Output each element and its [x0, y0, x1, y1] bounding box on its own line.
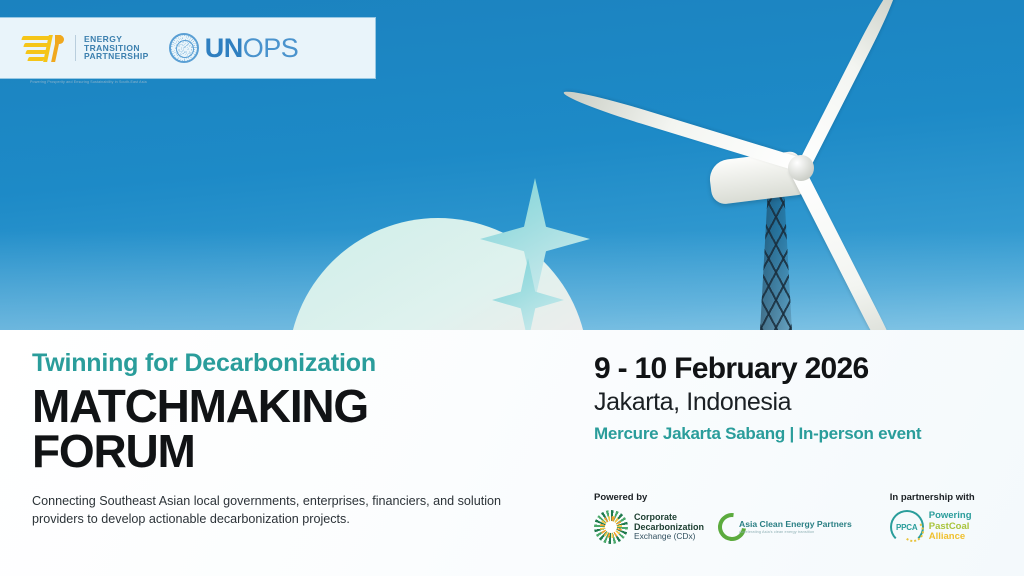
ppca-logo: PPCA Powering PastCoal Alliance [890, 510, 972, 544]
wind-turbine-image [560, 60, 1024, 350]
unops-wordmark: UNOPS [205, 35, 299, 62]
ppca-mark-icon: PPCA [890, 510, 924, 544]
etp-logo: ENERGY TRANSITION PARTNERSHIP [22, 33, 149, 63]
etp-line-3: PARTNERSHIP [84, 52, 149, 61]
logo-bar: ENERGY TRANSITION PARTNERSHIP UNOPS Powe… [0, 18, 375, 78]
event-city: Jakarta, Indonesia [594, 388, 1004, 417]
event-date: 9 - 10 February 2026 [594, 352, 1004, 385]
etp-mark-icon [22, 33, 66, 63]
unops-bold: UN [205, 33, 243, 63]
content-panel: Twinning for Decarbonization MATCHMAKING… [0, 330, 1024, 576]
cdx-logo: Corporate Decarbonization Exchange (CDx) [594, 510, 704, 544]
etp-tagline: Powering Prosperity and Ensuring Sustain… [30, 80, 200, 84]
powered-by-group: Powered by Corporate Decarbonization Exc… [594, 492, 852, 544]
event-venue: Mercure Jakarta Sabang | In-person event [594, 424, 1004, 444]
un-emblem-icon [169, 33, 199, 63]
acep-name: Asia Clean Energy Partners [739, 520, 852, 529]
ppca-line-3: Alliance [929, 532, 972, 542]
etp-wordmark: ENERGY TRANSITION PARTNERSHIP [84, 35, 149, 61]
cdx-line-1: Corporate [634, 512, 704, 522]
unops-logo: UNOPS [169, 33, 299, 63]
headline-line-1: MATCHMAKING [32, 384, 552, 429]
event-description: Connecting Southeast Asian local governm… [32, 492, 512, 529]
turbine-blade [562, 86, 805, 172]
partner-strip: Powered by Corporate Decarbonization Exc… [594, 492, 1014, 544]
ppca-abbr: PPCA [896, 523, 917, 532]
left-column: Twinning for Decarbonization MATCHMAKING… [32, 350, 552, 528]
acep-logo: Asia Clean Energy Partners Accelerating … [718, 513, 852, 541]
acep-tagline: Accelerating Asia's clean energy transit… [739, 530, 852, 534]
divider [75, 35, 76, 61]
powered-by-label: Powered by [594, 492, 852, 503]
cdx-wordmark: Corporate Decarbonization Exchange (CDx) [634, 512, 704, 542]
right-column: 9 - 10 February 2026 Jakarta, Indonesia … [594, 352, 1004, 444]
partnership-label: In partnership with [890, 492, 975, 503]
ppca-wordmark: Powering PastCoal Alliance [929, 511, 972, 542]
event-kicker: Twinning for Decarbonization [32, 350, 552, 378]
partnership-group: In partnership with PPCA Powering PastCo… [890, 492, 975, 544]
turbine-hub [788, 155, 814, 181]
event-banner: ENERGY TRANSITION PARTNERSHIP UNOPS Powe… [0, 0, 1024, 576]
headline-line-2: FORUM [32, 429, 552, 474]
page-title: MATCHMAKING FORUM [32, 384, 552, 474]
acep-wordmark: Asia Clean Energy Partners Accelerating … [739, 520, 852, 534]
cdx-line-3: Exchange (CDx) [634, 532, 704, 541]
cdx-mark-icon [594, 510, 628, 544]
unops-light: OPS [243, 33, 299, 63]
